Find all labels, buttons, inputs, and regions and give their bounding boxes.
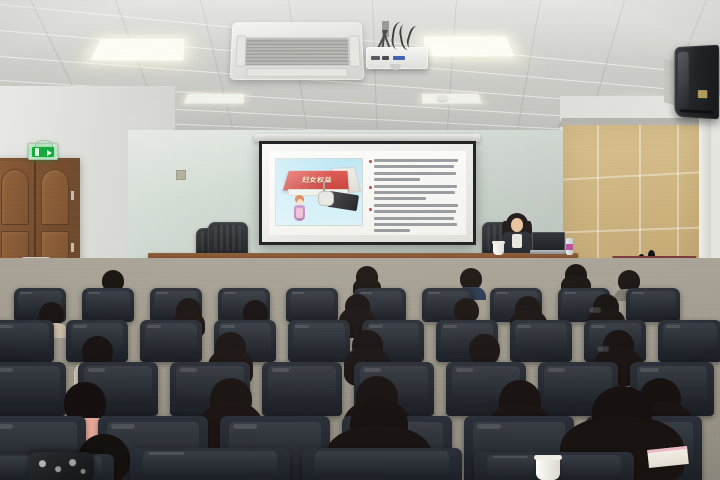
seat-r5-2[interactable]	[130, 448, 290, 480]
laptop[interactable]	[530, 232, 564, 254]
audience-area	[0, 258, 720, 480]
presentation-slide: 妇女权益	[269, 151, 466, 235]
exit-sign-face-icon	[32, 147, 54, 157]
attendee-glasses	[589, 307, 601, 313]
seat-r1-2[interactable]	[82, 288, 134, 322]
ac-grille-icon	[244, 37, 349, 65]
tea-cup	[493, 243, 504, 255]
paper-cup[interactable]	[536, 458, 560, 480]
illustration-woman-figure	[293, 195, 306, 221]
slide-banner: 妇女权益	[283, 171, 349, 190]
air-conditioner-unit	[230, 22, 365, 80]
seat-r2-10[interactable]	[658, 320, 720, 362]
seat-r2-5[interactable]	[288, 320, 350, 362]
seat-r2-3[interactable]	[140, 320, 202, 362]
projection-screen-frame: 妇女权益	[259, 141, 476, 245]
projection-screen: 妇女权益	[262, 144, 473, 242]
attendee-glasses-2	[597, 346, 609, 352]
seat-r1-10[interactable]	[626, 288, 680, 322]
seat-r2-1[interactable]	[0, 320, 54, 362]
seat-r2-8[interactable]	[510, 320, 572, 362]
slide-illustration: 妇女权益	[275, 158, 363, 226]
wall-outlet-icon	[176, 170, 186, 180]
exec-chair-center	[208, 222, 248, 256]
presenter-face	[511, 218, 523, 232]
lecture-hall-photo: 妇女权益	[0, 0, 720, 480]
backpack[interactable]	[28, 452, 94, 480]
speaker-badge-icon	[698, 90, 707, 98]
wall-speaker	[674, 45, 719, 120]
slide-body-text	[368, 159, 460, 225]
slide-banner-text: 妇女权益	[301, 176, 332, 185]
projector	[366, 47, 428, 69]
illustration-fist	[318, 191, 334, 206]
seat-r5-3[interactable]	[302, 448, 462, 480]
smoke-detector-icon	[437, 95, 448, 101]
seat-r1-5[interactable]	[286, 288, 338, 322]
water-bottle	[566, 238, 573, 255]
exit-sign	[28, 143, 58, 160]
